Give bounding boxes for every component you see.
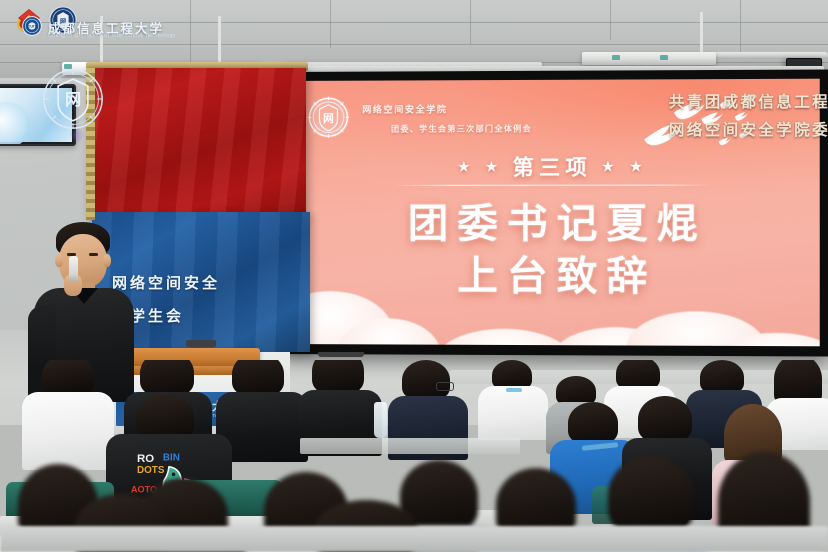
monitor-graphic <box>0 102 30 146</box>
star-icon: ★ <box>629 159 648 174</box>
speaker-eye <box>89 253 98 256</box>
red-banner-line2: 网络空间安全学院委 <box>669 118 828 140</box>
slide-title-line1: 团委书记夏焜 <box>289 199 820 251</box>
lecture-hall-photo: 中国 网 共青团成都信息工程 网络空间安全学院委 CUIT 成都信息工程大学 C… <box>0 0 828 552</box>
lens-flare <box>70 128 84 142</box>
blue-banner-university-name-en: Chengdu University of Information Techno… <box>48 33 176 39</box>
speaker-ear <box>55 254 63 267</box>
svg-text:BIN: BIN <box>163 453 180 464</box>
star-icon: ★ <box>601 159 620 174</box>
light-end-cap <box>612 55 620 60</box>
projector-screen: 网 网络空间安全学院 团委、学生会第三次部门全体例会 ★ ★ 第三项 ★ ★ 团… <box>280 69 828 356</box>
water-bottle <box>374 402 387 438</box>
red-banner-line1: 共青团成都信息工程 <box>669 90 828 112</box>
podium-microphone <box>186 340 216 347</box>
foreground-desk <box>0 526 828 552</box>
agenda-marker-text: 第三项 <box>513 151 592 181</box>
slide-organization: 网络空间安全学院 <box>362 103 447 116</box>
cloud-decoration-icon <box>436 329 574 346</box>
audience-desk <box>300 438 520 454</box>
red-banner <box>88 68 306 218</box>
light-rod <box>218 16 221 64</box>
speaker-ear <box>103 254 111 267</box>
svg-text:网: 网 <box>65 91 81 109</box>
slide-agenda-item: ★ ★ 第三项 ★ ★ <box>289 151 820 182</box>
handheld-microphone <box>69 256 78 282</box>
svg-text:DOTS: DOTS <box>137 465 165 476</box>
audience-area: RO BIN DOTS AOTO bops <box>0 360 828 552</box>
university-seal-icon: CUIT <box>22 16 42 36</box>
svg-text:RO: RO <box>137 453 154 465</box>
projector-screen-pull-tab[interactable] <box>318 352 364 357</box>
svg-text:网: 网 <box>323 113 334 125</box>
light-end-cap <box>660 55 668 60</box>
star-icon: ★ <box>457 159 476 174</box>
slide-divider <box>394 184 712 186</box>
svg-text:CUIT: CUIT <box>27 24 37 29</box>
slide-main-title: 团委书记夏焜 上台致辞 <box>289 199 820 303</box>
cyberspace-security-school-seal-icon: 网 <box>42 68 104 130</box>
star-icon: ★ <box>485 159 504 174</box>
light-rod <box>700 12 703 54</box>
eyeglasses-icon <box>436 382 454 391</box>
ceiling-fluorescent-light <box>582 52 716 65</box>
slide-title-line2: 上台致辞 <box>289 251 820 304</box>
university-seal-icon: 网 <box>306 95 351 140</box>
slide-subtitle: 团委、学生会第三次部门全体例会 <box>391 123 532 134</box>
